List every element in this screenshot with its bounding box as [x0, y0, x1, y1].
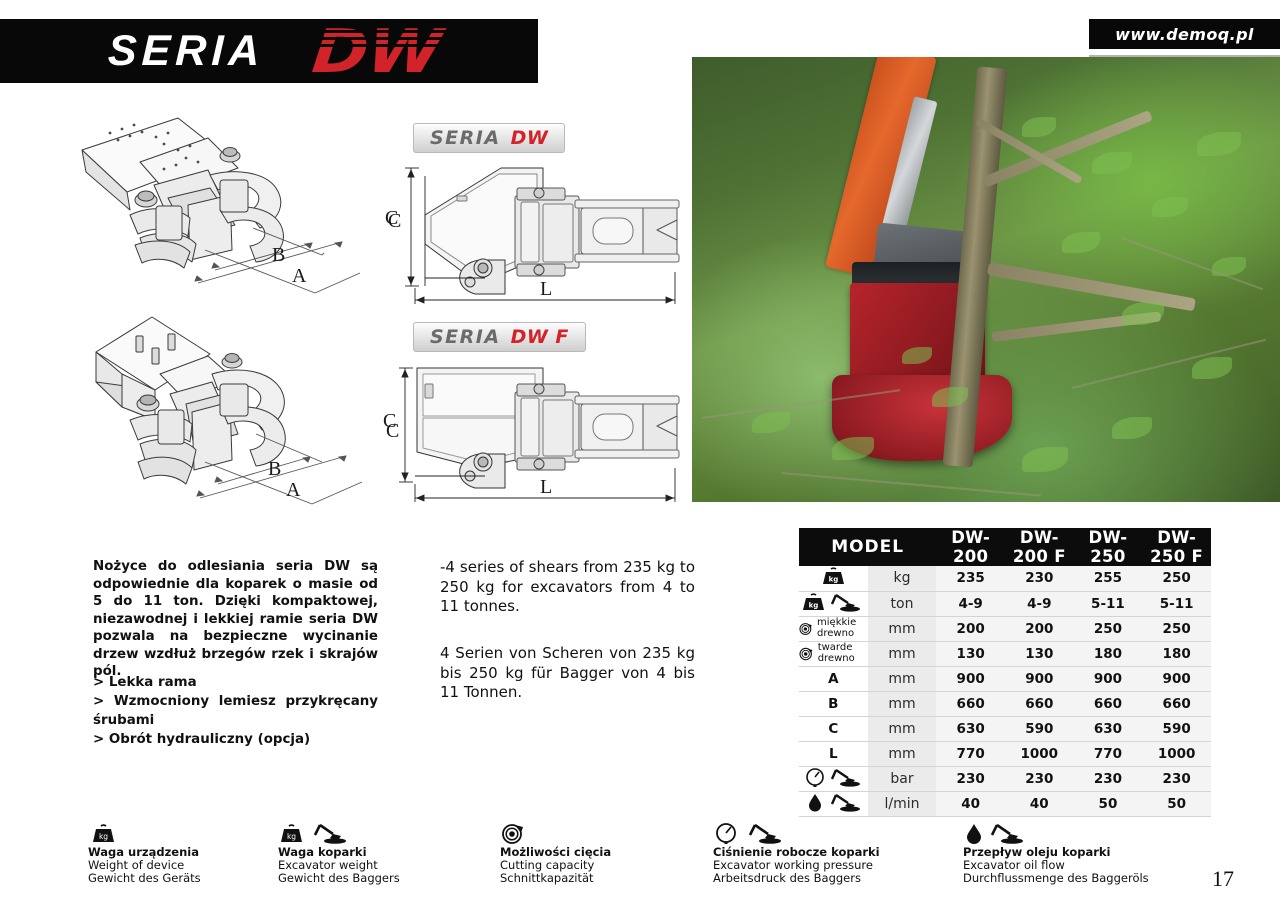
- iso2-dim-a-label: A: [286, 479, 300, 502]
- cell-value: 660: [936, 691, 1005, 716]
- table-row: L mm 770 1000 770 1000: [799, 741, 1211, 766]
- website-badge[interactable]: www.demoq.pl: [1089, 19, 1280, 49]
- cell-value: 250: [1142, 616, 1211, 641]
- feature-list: > Lekka rama > Wzmocniony lemiesz przykr…: [93, 673, 378, 749]
- wood-rings-icon: [500, 822, 611, 844]
- table-header-row: MODEL DW-200 DW-200 F DW-250 DW-250 F: [799, 528, 1211, 566]
- side-dim-l-label: L: [540, 278, 552, 301]
- series-code-text: DW: [310, 21, 444, 83]
- side-drawing-dwf: C L: [395, 358, 685, 503]
- website-url: www.demoq.pl: [1115, 25, 1254, 44]
- cell-value: 630: [936, 716, 1005, 741]
- table-row: A mm 900 900 900 900: [799, 666, 1211, 691]
- cell-value: 1000: [1005, 741, 1074, 766]
- hard-wood-icon: twarde drewno: [799, 641, 868, 666]
- iso-drawing-dw: B A C: [60, 110, 400, 300]
- col-header-dw250: DW-250: [1074, 528, 1143, 566]
- oil-flow-icon: [963, 822, 1149, 844]
- feature-item: > Obrót hydrauliczny (opcja): [93, 730, 378, 749]
- cell-value: 40: [936, 791, 1005, 816]
- feature-item: > Lekka rama: [93, 673, 378, 692]
- svg-text:kg: kg: [287, 832, 296, 841]
- row-unit: bar: [868, 766, 937, 791]
- legend-label-de: Durchflussmenge des Baggeröls: [963, 872, 1149, 885]
- iso-dim-a-label: A: [292, 265, 306, 288]
- dim-b-letter: B: [799, 691, 868, 716]
- cell-value: 590: [1005, 716, 1074, 741]
- cell-value: 900: [936, 666, 1005, 691]
- badge2-seria-word: SERIA: [430, 326, 501, 348]
- cell-value: 900: [1074, 666, 1143, 691]
- catalog-page: SERIA DW www.demoq.pl LEŚNICTWO: [0, 0, 1280, 912]
- svg-text:kg: kg: [99, 832, 108, 841]
- cell-value: 130: [936, 641, 1005, 666]
- cell-value: 235: [936, 566, 1005, 591]
- table-row: kg kg 235 230 255 250: [799, 566, 1211, 591]
- legend-oil-flow: Przepływ oleju koparki Excavator oil flo…: [963, 822, 1149, 884]
- table-row: miękkie drewno mm 200 200 250 250: [799, 616, 1211, 641]
- legend-label-de: Gewicht des Baggers: [278, 872, 400, 885]
- cell-value: 770: [1074, 741, 1143, 766]
- row-unit: mm: [868, 741, 937, 766]
- cell-value: 900: [1142, 666, 1211, 691]
- cell-value: 40: [1005, 791, 1074, 816]
- legend-label-en: Cutting capacity: [500, 859, 611, 872]
- table-row: bar 230 230 230 230: [799, 766, 1211, 791]
- badge2-series-code: DW F: [511, 326, 569, 348]
- table-row: kg ton 4-9 4-9 5-11 5-11: [799, 591, 1211, 616]
- description-polish: Nożyce do odlesiania seria DW są odpowie…: [93, 558, 378, 681]
- cell-value: 4-9: [1005, 591, 1074, 616]
- series-header-bar: SERIA DW: [0, 19, 538, 83]
- row-unit: l/min: [868, 791, 937, 816]
- row-unit: mm: [868, 716, 937, 741]
- cell-value: 200: [936, 616, 1005, 641]
- legend-label-de: Gewicht des Geräts: [88, 872, 201, 885]
- description-english: -4 series of shears from 235 kg to 250 k…: [440, 558, 695, 617]
- cell-value: 50: [1074, 791, 1143, 816]
- col-header-dw200: DW-200: [936, 528, 1005, 566]
- cell-value: 180: [1074, 641, 1143, 666]
- badge-series-code: DW: [511, 127, 549, 149]
- svg-text:kg: kg: [809, 601, 819, 609]
- cell-value: 230: [1142, 766, 1211, 791]
- excavator-weight-icon: kg: [278, 822, 400, 844]
- row-unit: kg: [868, 566, 937, 591]
- cell-value: 590: [1142, 716, 1211, 741]
- cell-value: 5-11: [1142, 591, 1211, 616]
- cell-value: 50: [1142, 791, 1211, 816]
- dim-l-letter: L: [799, 741, 868, 766]
- pressure-gauge-icon: [713, 822, 880, 844]
- iso-dim-b-label: B: [272, 244, 285, 267]
- table-row: twarde drewno mm 130 130 180 180: [799, 641, 1211, 666]
- pressure-gauge-icon: [799, 766, 868, 791]
- legend-weight-device: kg Waga urządzenia Weight of device Gewi…: [88, 822, 201, 884]
- cell-value: 660: [1074, 691, 1143, 716]
- svg-text:kg: kg: [829, 576, 839, 584]
- legend-label-en: Excavator oil flow: [963, 859, 1149, 872]
- hard-wood-label: twarde drewno: [818, 643, 868, 664]
- cell-value: 250: [1142, 566, 1211, 591]
- legend-label-de: Schnittkapazität: [500, 872, 611, 885]
- weight-kg-icon: kg: [88, 822, 201, 844]
- cell-value: 180: [1142, 641, 1211, 666]
- cell-value: 230: [1005, 566, 1074, 591]
- soft-wood-icon: miękkie drewno: [799, 616, 868, 641]
- tree-branch: [987, 262, 1196, 311]
- legend-label-en: Weight of device: [88, 859, 201, 872]
- badge-seria-word: SERIA: [430, 127, 501, 149]
- legend-label-de: Arbeitsdruck des Baggers: [713, 872, 880, 885]
- cell-value: 130: [1005, 641, 1074, 666]
- table-row: l/min 40 40 50 50: [799, 791, 1211, 816]
- cell-value: 255: [1074, 566, 1143, 591]
- dim-a-letter: A: [799, 666, 868, 691]
- series-word: SERIA: [107, 30, 265, 73]
- feature-item: > Wzmocniony lemiesz przykręcany śrubami: [93, 692, 378, 730]
- weight-kg-icon: kg: [799, 566, 868, 591]
- row-unit: mm: [868, 641, 937, 666]
- col-header-dw200f: DW-200 F: [1005, 528, 1074, 566]
- row-unit: mm: [868, 691, 937, 716]
- legend-label-en: Excavator working pressure: [713, 859, 880, 872]
- specifications-table: MODEL DW-200 DW-200 F DW-250 DW-250 F kg…: [799, 528, 1211, 817]
- col-header-dw250f: DW-250 F: [1142, 528, 1211, 566]
- cell-value: 5-11: [1074, 591, 1143, 616]
- row-unit: ton: [868, 591, 937, 616]
- legend-excavator-weight: kg Waga koparki Excavator weight Gewicht…: [278, 822, 400, 884]
- soft-wood-label: miękkie drewno: [817, 618, 868, 639]
- side-drawing-dw: C L: [395, 160, 685, 305]
- cell-value: 660: [1142, 691, 1211, 716]
- iso2-dim-b-label: B: [268, 458, 281, 481]
- row-unit: mm: [868, 616, 937, 641]
- table-row: C mm 630 590 630 590: [799, 716, 1211, 741]
- description-german: 4 Serien von Scheren von 235 kg bis 250 …: [440, 644, 695, 703]
- badge-seria-dwf: SERIA DW F: [413, 322, 586, 352]
- cell-value: 900: [1005, 666, 1074, 691]
- cell-value: 4-9: [936, 591, 1005, 616]
- dim-c-letter: C: [799, 716, 868, 741]
- row-unit: mm: [868, 666, 937, 691]
- cell-value: 230: [1005, 766, 1074, 791]
- legend-cutting-capacity: Możliwości cięcia Cutting capacity Schni…: [500, 822, 611, 884]
- product-photo: [692, 57, 1280, 502]
- page-number: 17: [1212, 866, 1234, 892]
- side2-dim-l-label: L: [540, 476, 552, 499]
- cell-value: 250: [1074, 616, 1143, 641]
- side-dim-c-label: C: [388, 210, 401, 233]
- cell-value: 770: [936, 741, 1005, 766]
- excavator-weight-icon: kg: [799, 591, 868, 616]
- cell-value: 230: [936, 766, 1005, 791]
- series-code-logo: DW: [316, 19, 506, 83]
- cell-value: 660: [1005, 691, 1074, 716]
- cell-value: 200: [1005, 616, 1074, 641]
- badge-seria-dw: SERIA DW: [413, 123, 565, 153]
- legend-label-en: Excavator weight: [278, 859, 400, 872]
- side2-dim-c-label: C: [383, 410, 396, 433]
- table-row: B mm 660 660 660 660: [799, 691, 1211, 716]
- cell-value: 1000: [1142, 741, 1211, 766]
- legend-working-pressure: Ciśnienie robocze koparki Excavator work…: [713, 822, 880, 884]
- iso-drawing-dwf: B A C: [60, 312, 400, 512]
- cell-value: 230: [1074, 766, 1143, 791]
- cell-value: 630: [1074, 716, 1143, 741]
- col-header-model: MODEL: [799, 528, 936, 566]
- oil-flow-icon: [799, 791, 868, 816]
